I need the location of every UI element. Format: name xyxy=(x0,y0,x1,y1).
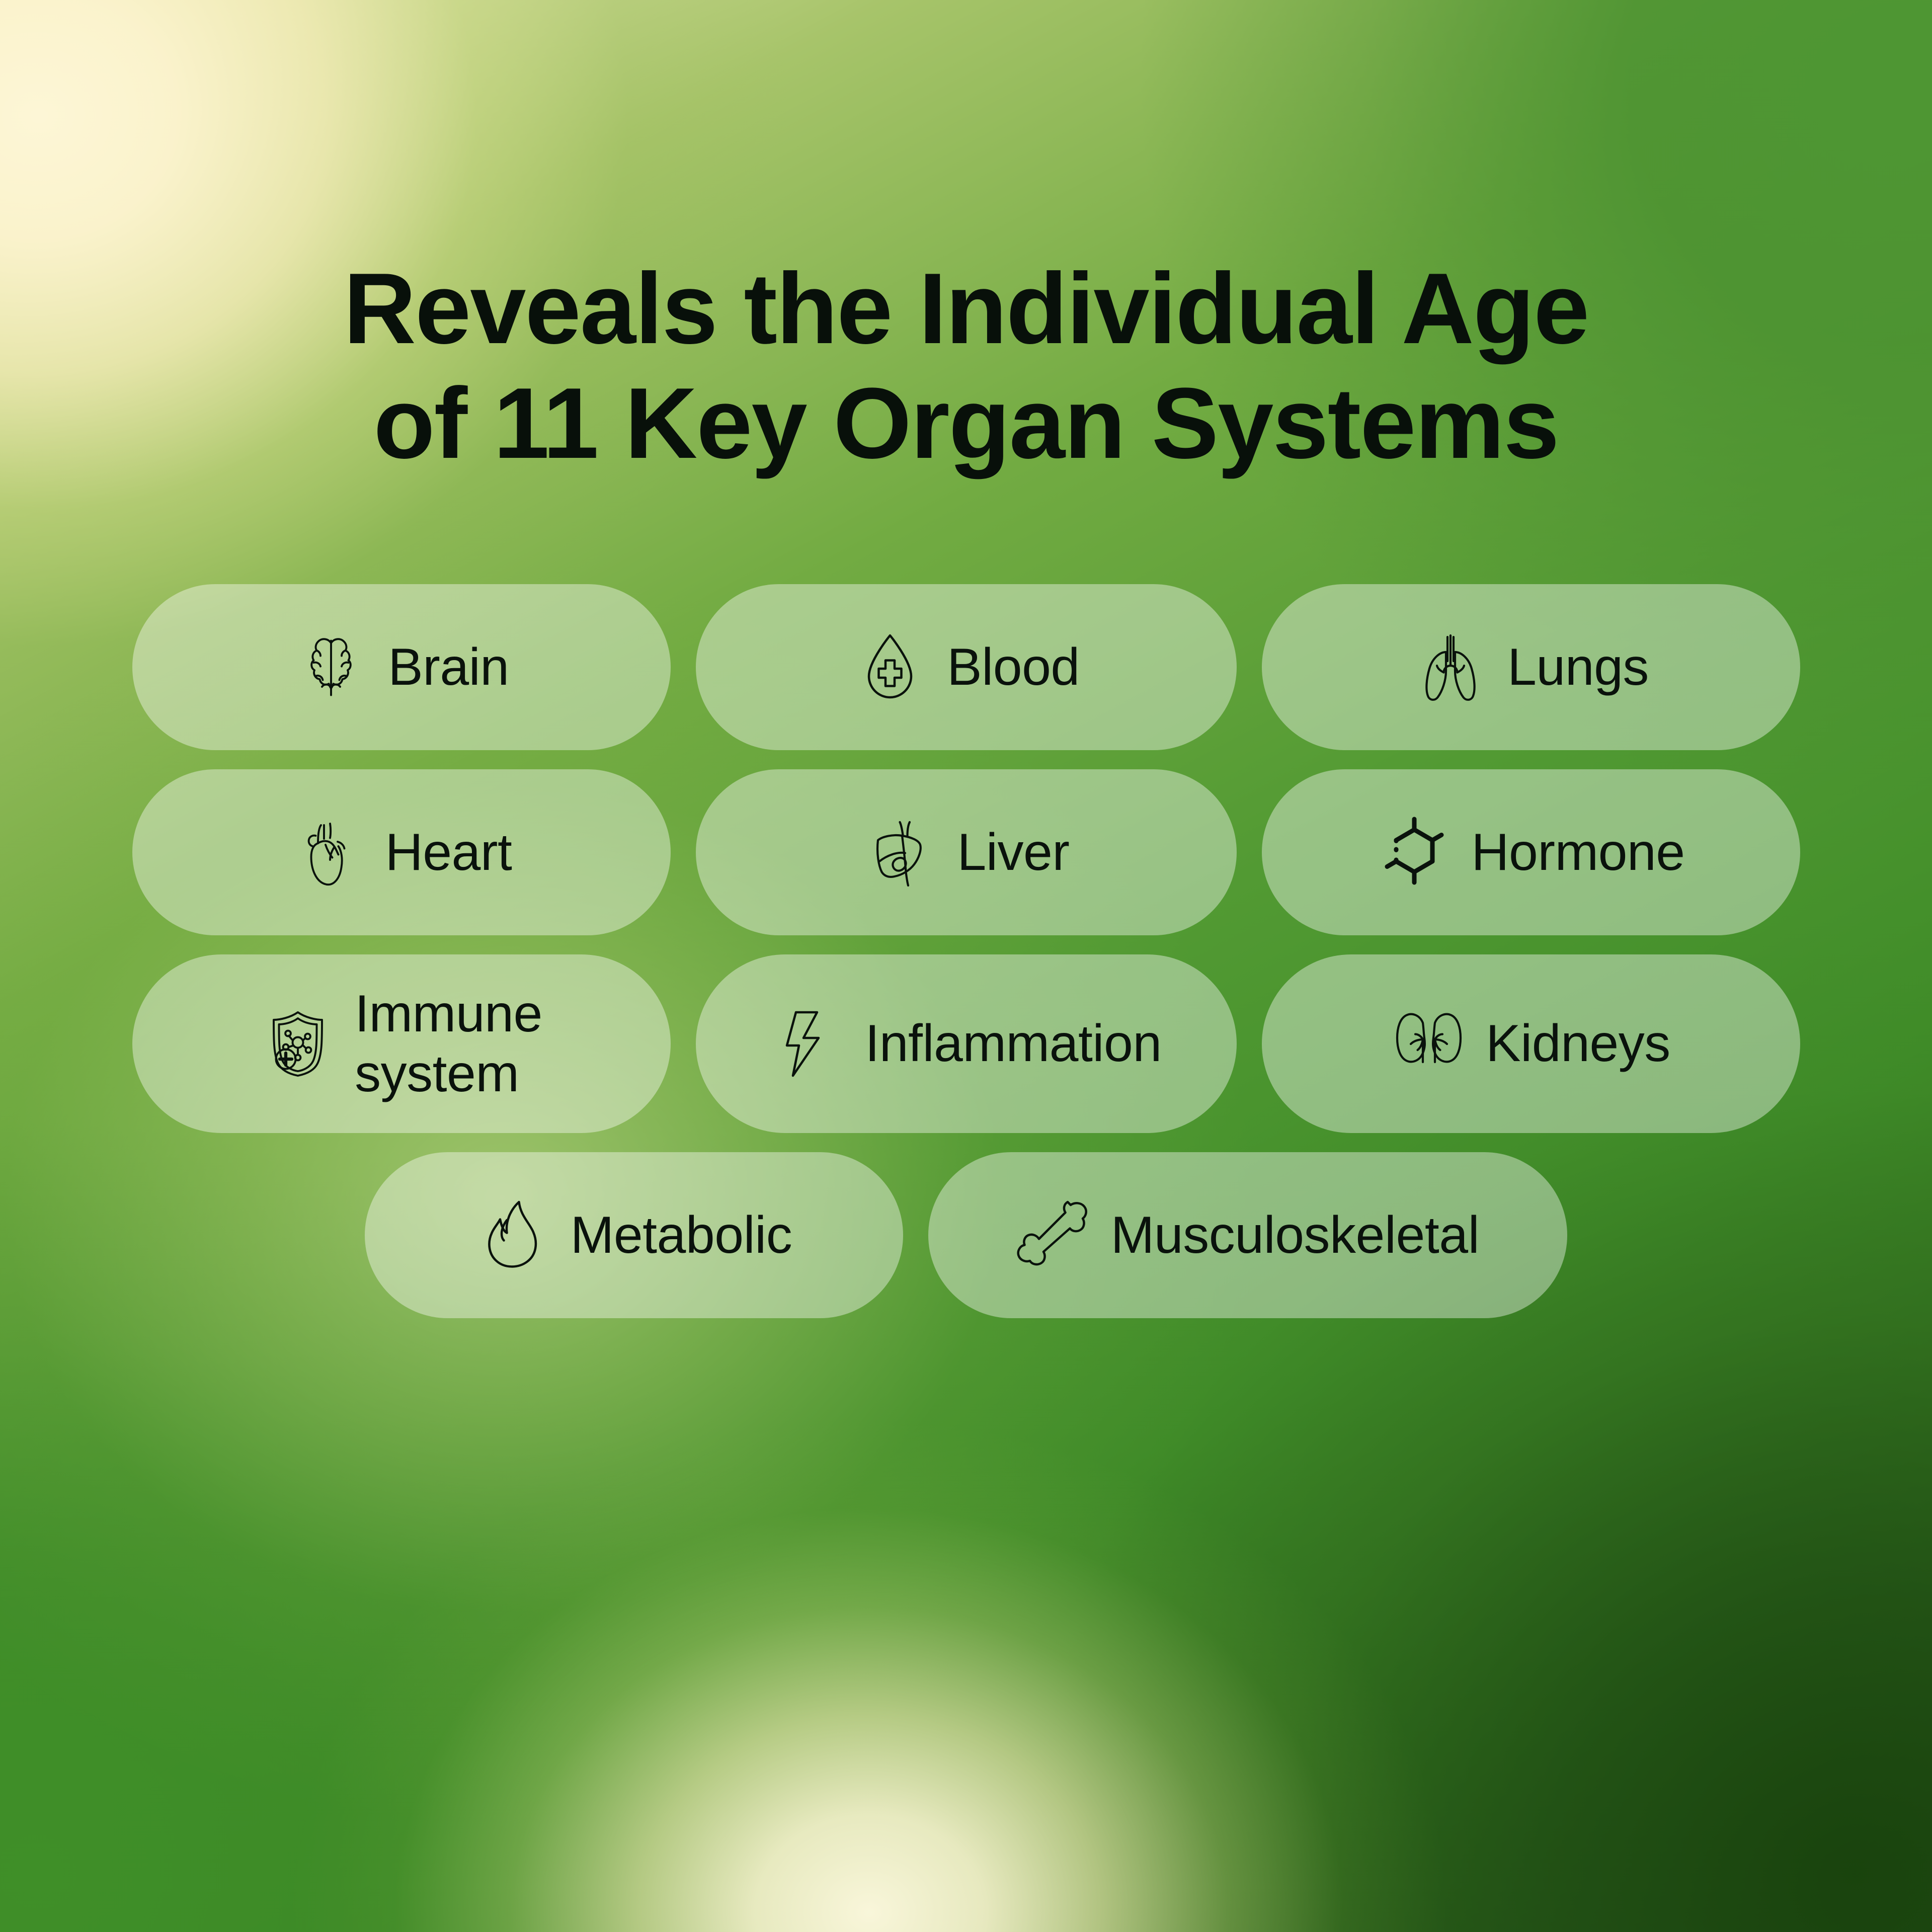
brain-icon xyxy=(293,629,369,705)
organ-label: Immune system xyxy=(355,984,542,1103)
organ-label: Lungs xyxy=(1507,637,1649,697)
infographic-page: Reveals the Individual Age of 11 Key Org… xyxy=(0,0,1932,1932)
organ-label: Inflammation xyxy=(865,1014,1161,1074)
organ-label: Hormone xyxy=(1471,823,1684,882)
lightning-bolt-icon xyxy=(770,1006,846,1082)
organ-row-2: Heart Liver xyxy=(132,769,1800,935)
page-title: Reveals the Individual Age of 11 Key Org… xyxy=(136,252,1796,481)
organ-pill-immune-system[interactable]: Immune system xyxy=(132,954,671,1133)
organ-pill-liver[interactable]: Liver xyxy=(696,769,1237,935)
page-title-line-2: of 11 Key Organ Systems xyxy=(136,366,1796,481)
organ-pill-blood[interactable]: Blood xyxy=(696,584,1237,750)
page-title-line-1: Reveals the Individual Age xyxy=(136,252,1796,366)
organ-label: Liver xyxy=(957,823,1070,882)
bone-icon xyxy=(1016,1197,1092,1273)
kidneys-icon xyxy=(1391,1006,1467,1082)
organ-pill-brain[interactable]: Brain xyxy=(132,584,671,750)
blood-drop-icon xyxy=(852,629,928,705)
organ-pill-musculoskeletal[interactable]: Musculoskeletal xyxy=(928,1152,1567,1318)
immune-shield-icon xyxy=(260,1006,336,1082)
organ-row-4: Metabolic Musculoskeletal xyxy=(365,1152,1567,1318)
organ-row-1: Brain Blood xyxy=(132,584,1800,750)
liver-icon xyxy=(863,815,938,890)
hormone-molecule-icon xyxy=(1377,815,1452,890)
organ-label: Heart xyxy=(385,823,512,882)
organ-pill-metabolic[interactable]: Metabolic xyxy=(365,1152,903,1318)
organ-pill-heart[interactable]: Heart xyxy=(132,769,671,935)
organ-pill-hormone[interactable]: Hormone xyxy=(1262,769,1800,935)
organ-pill-lungs[interactable]: Lungs xyxy=(1262,584,1800,750)
heart-anatomical-icon xyxy=(291,815,366,890)
organ-label: Blood xyxy=(947,637,1080,697)
organ-pill-kidneys[interactable]: Kidneys xyxy=(1262,954,1800,1133)
organ-systems-grid: Brain Blood xyxy=(86,584,1846,1318)
organ-label: Metabolic xyxy=(571,1205,792,1265)
organ-label: Brain xyxy=(388,637,509,697)
lungs-icon xyxy=(1413,629,1488,705)
flame-icon xyxy=(476,1197,551,1273)
organ-pill-inflammation[interactable]: Inflammation xyxy=(696,954,1237,1133)
organ-label: Musculoskeletal xyxy=(1111,1205,1479,1265)
organ-row-3: Immune system Inflammation xyxy=(132,954,1800,1133)
organ-label: Kidneys xyxy=(1486,1014,1670,1074)
